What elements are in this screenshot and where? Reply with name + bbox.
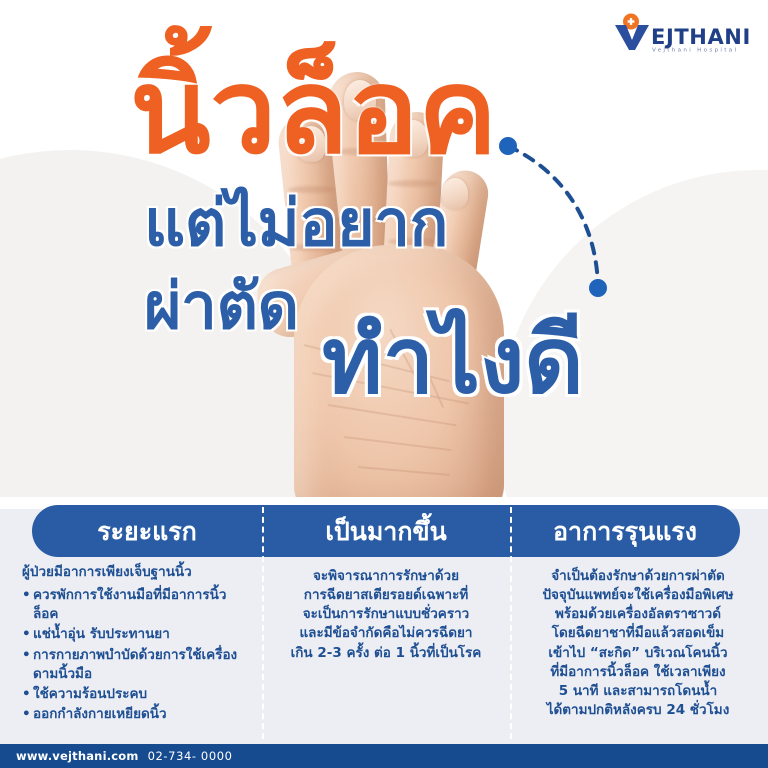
column3-line: ปัจจุบันแพทย์จะใช้เครื่องมือพิเศษ [524,586,752,605]
column3-line: ได้ตามปกติหลังครบ 24 ชั่วโมง [524,701,752,720]
footer-bar: www.vejthani.com 02-734- 0000 [0,744,768,768]
column3-line: จำเป็นต้องรักษาด้วยการผ่าตัด [524,567,752,586]
vejthani-logo[interactable]: EJTHANI Vejthani Hospital [602,12,750,54]
logo-tagline: Vejthani Hospital [652,48,738,54]
logo-wordmark: EJTHANI [651,25,750,49]
stage-column-moderate: จะพิจารณาการรักษาด้วย การฉีดยาสเตียรอยด์… [262,563,510,741]
headline-line-2: แต่ไม่อยาก [144,192,448,256]
headline-block: นิ้วล็อค แต่ไม่อยาก ผ่าตัด ทำไงดี [0,0,768,500]
column2-line: จะเป็นการรักษาแบบชั่วคราว [274,605,498,624]
stage-column-severe: จำเป็นต้องรักษาด้วยการผ่าตัด ปัจจุบันแพท… [510,563,768,741]
logo-cross-v [630,18,632,25]
column2-line: และมีข้อจำกัดคือไม่ควรฉีดยา [274,624,498,643]
list-item: แช่น้ำอุ่น รับประทานยา [22,625,248,644]
info-panel: ระยะแรก เป็นมากขึ้น อาการรุนแรง ผู้ป่วยม… [0,497,768,744]
list-item: ควรพักการใช้งานมือที่มีอาการนิ้วล็อค [22,586,248,624]
headline-line-3: ผ่าตัด [144,275,299,339]
footer-website[interactable]: www.vejthani.com [16,749,139,763]
column3-line: เข้าไป “สะกิด” บริเวณโคนนิ้ว [524,644,752,663]
column1-lede: ผู้ป่วยมีอาการเพียงเจ็บฐานนิ้ว [22,563,248,582]
column2-line: การฉีดยาสเตียรอยด์เฉพาะที่ [274,586,498,605]
column3-line: โดยฉีดยาชาที่มือแล้วสอดเข็ม [524,624,752,643]
poster-root: นิ้วล็อค แต่ไม่อยาก ผ่าตัด ทำไงดี EJTHAN… [0,0,768,768]
stage-headers: ระยะแรก เป็นมากขึ้น อาการรุนแรง [32,505,740,557]
column2-line: จะพิจารณาการรักษาด้วย [274,567,498,586]
column3-line: พร้อมด้วยเครื่องอัลตราซาวด์ [524,605,752,624]
column1-bullet-list: ควรพักการใช้งานมือที่มีอาการนิ้วล็อค แช่… [22,586,248,724]
headline-line-4: ทำไงดี [322,315,583,407]
list-item: การกายภาพบำบัดด้วยการใช้เครื่องดามนิ้วมื… [22,646,248,684]
column3-line: ที่มีอาการนิ้วล็อค ใช้เวลาเพียง [524,663,752,682]
stage-column-early: ผู้ป่วยมีอาการเพียงเจ็บฐานนิ้ว ควรพักการ… [0,563,262,741]
column2-line: เกิน 2-3 ครั้ง ต่อ 1 นิ้วที่เป็นโรค [274,644,498,663]
column3-line: 5 นาที และสามารถโดนน้ำ [524,682,752,701]
stage-header-early[interactable]: ระยะแรก [32,505,262,557]
stage-header-severe[interactable]: อาการรุนแรง [510,505,740,557]
list-item: ออกกำลังกายเหยียดนิ้ว [22,705,248,724]
stage-header-moderate[interactable]: เป็นมากขึ้น [262,505,510,557]
headline-line-1: นิ้วล็อค [130,52,497,170]
list-item: ใช้ความร้อนประคบ [22,685,248,704]
footer-phone[interactable]: 02-734- 0000 [148,749,233,763]
stage-columns: ผู้ป่วยมีอาการเพียงเจ็บฐานนิ้ว ควรพักการ… [0,563,768,741]
